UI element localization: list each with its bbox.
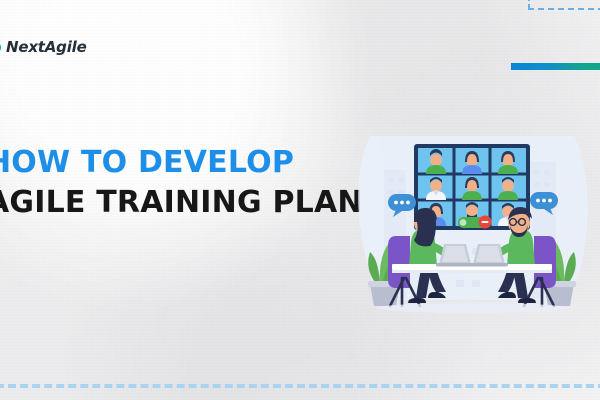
floor-shadow	[376, 303, 568, 313]
bottom-dashed-rule	[0, 384, 600, 388]
bracket-horizontal-segment	[528, 8, 600, 10]
gradient-accent-bar	[511, 63, 600, 70]
logo-text: NextAgile	[6, 38, 87, 56]
call-control-buttons	[458, 216, 492, 229]
page-title: HOW TO DEVELOP AGILE TRAINING PLAN	[0, 143, 363, 223]
logo-dot-icon	[0, 41, 1, 54]
brand-logo[interactable]: NextAgile	[0, 38, 87, 56]
headline-line-1: HOW TO DEVELOP	[0, 143, 363, 183]
banner-canvas: NextAgile HOW TO DEVELOP AGILE TRAINING …	[0, 0, 600, 400]
headline-line-2: AGILE TRAINING PLAN	[0, 183, 363, 223]
video-conference-meeting-illustration	[344, 118, 600, 340]
dashed-corner-bracket-icon	[528, 0, 600, 10]
